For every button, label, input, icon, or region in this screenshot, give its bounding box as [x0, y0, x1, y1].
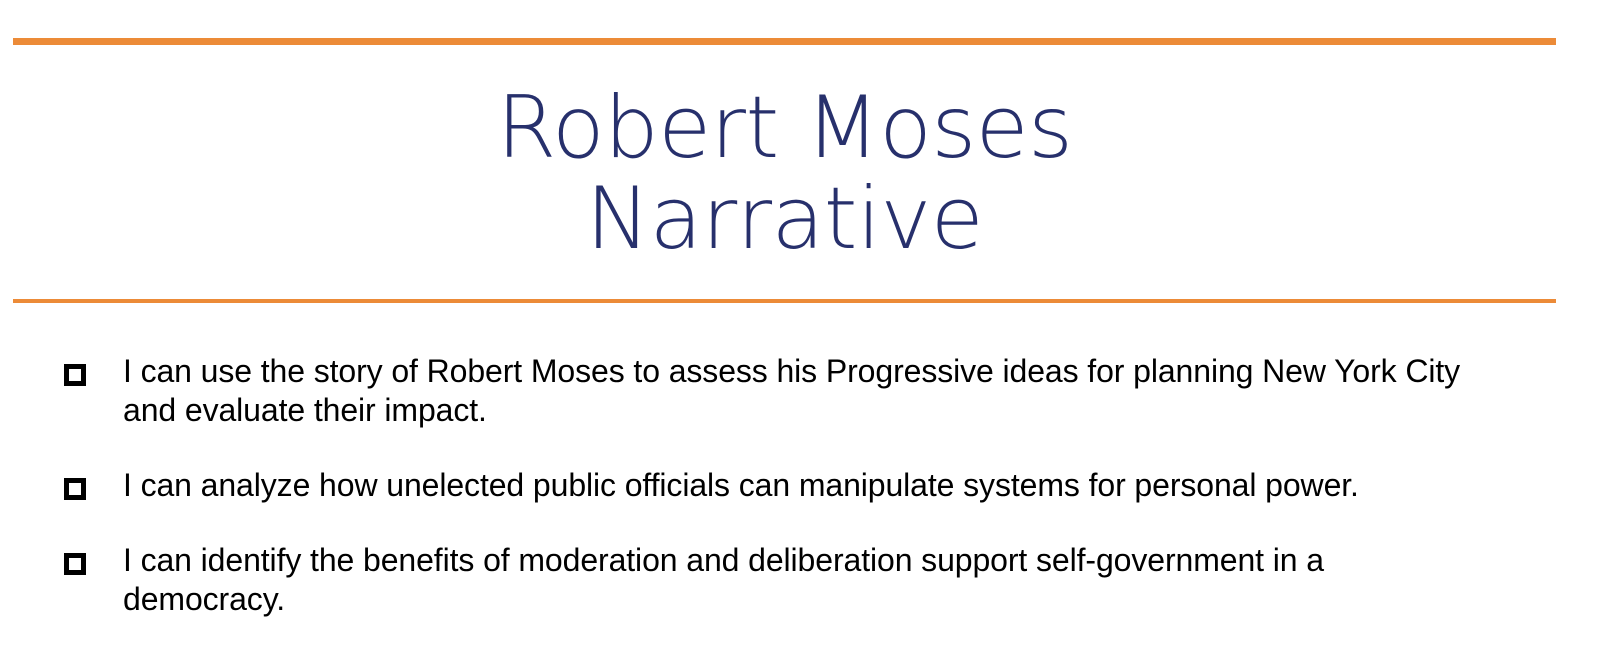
list-item-label: I can use the story of Robert Moses to a…: [123, 352, 1472, 430]
checkbox-empty-icon[interactable]: [64, 553, 86, 575]
checkbox-empty-icon[interactable]: [64, 478, 86, 500]
slide-canvas: Robert Moses Narrative I can use the sto…: [0, 0, 1624, 666]
page-title-line-2: Narrative: [586, 174, 983, 265]
top-accent-rule: [13, 38, 1556, 45]
list-item[interactable]: I can identify the benefits of moderatio…: [64, 541, 1514, 619]
list-item[interactable]: I can use the story of Robert Moses to a…: [64, 352, 1514, 430]
bottom-accent-rule: [13, 299, 1556, 303]
list-item-label: I can identify the benefits of moderatio…: [123, 541, 1433, 619]
page-title-line-1: Robert Moses: [497, 83, 1073, 174]
checkbox-empty-icon[interactable]: [64, 364, 86, 386]
list-item-label: I can analyze how unelected public offic…: [123, 466, 1514, 505]
slide-title-block: Robert Moses Narrative: [13, 58, 1556, 290]
learning-objectives-list: I can use the story of Robert Moses to a…: [64, 352, 1514, 619]
list-item[interactable]: I can analyze how unelected public offic…: [64, 466, 1514, 505]
